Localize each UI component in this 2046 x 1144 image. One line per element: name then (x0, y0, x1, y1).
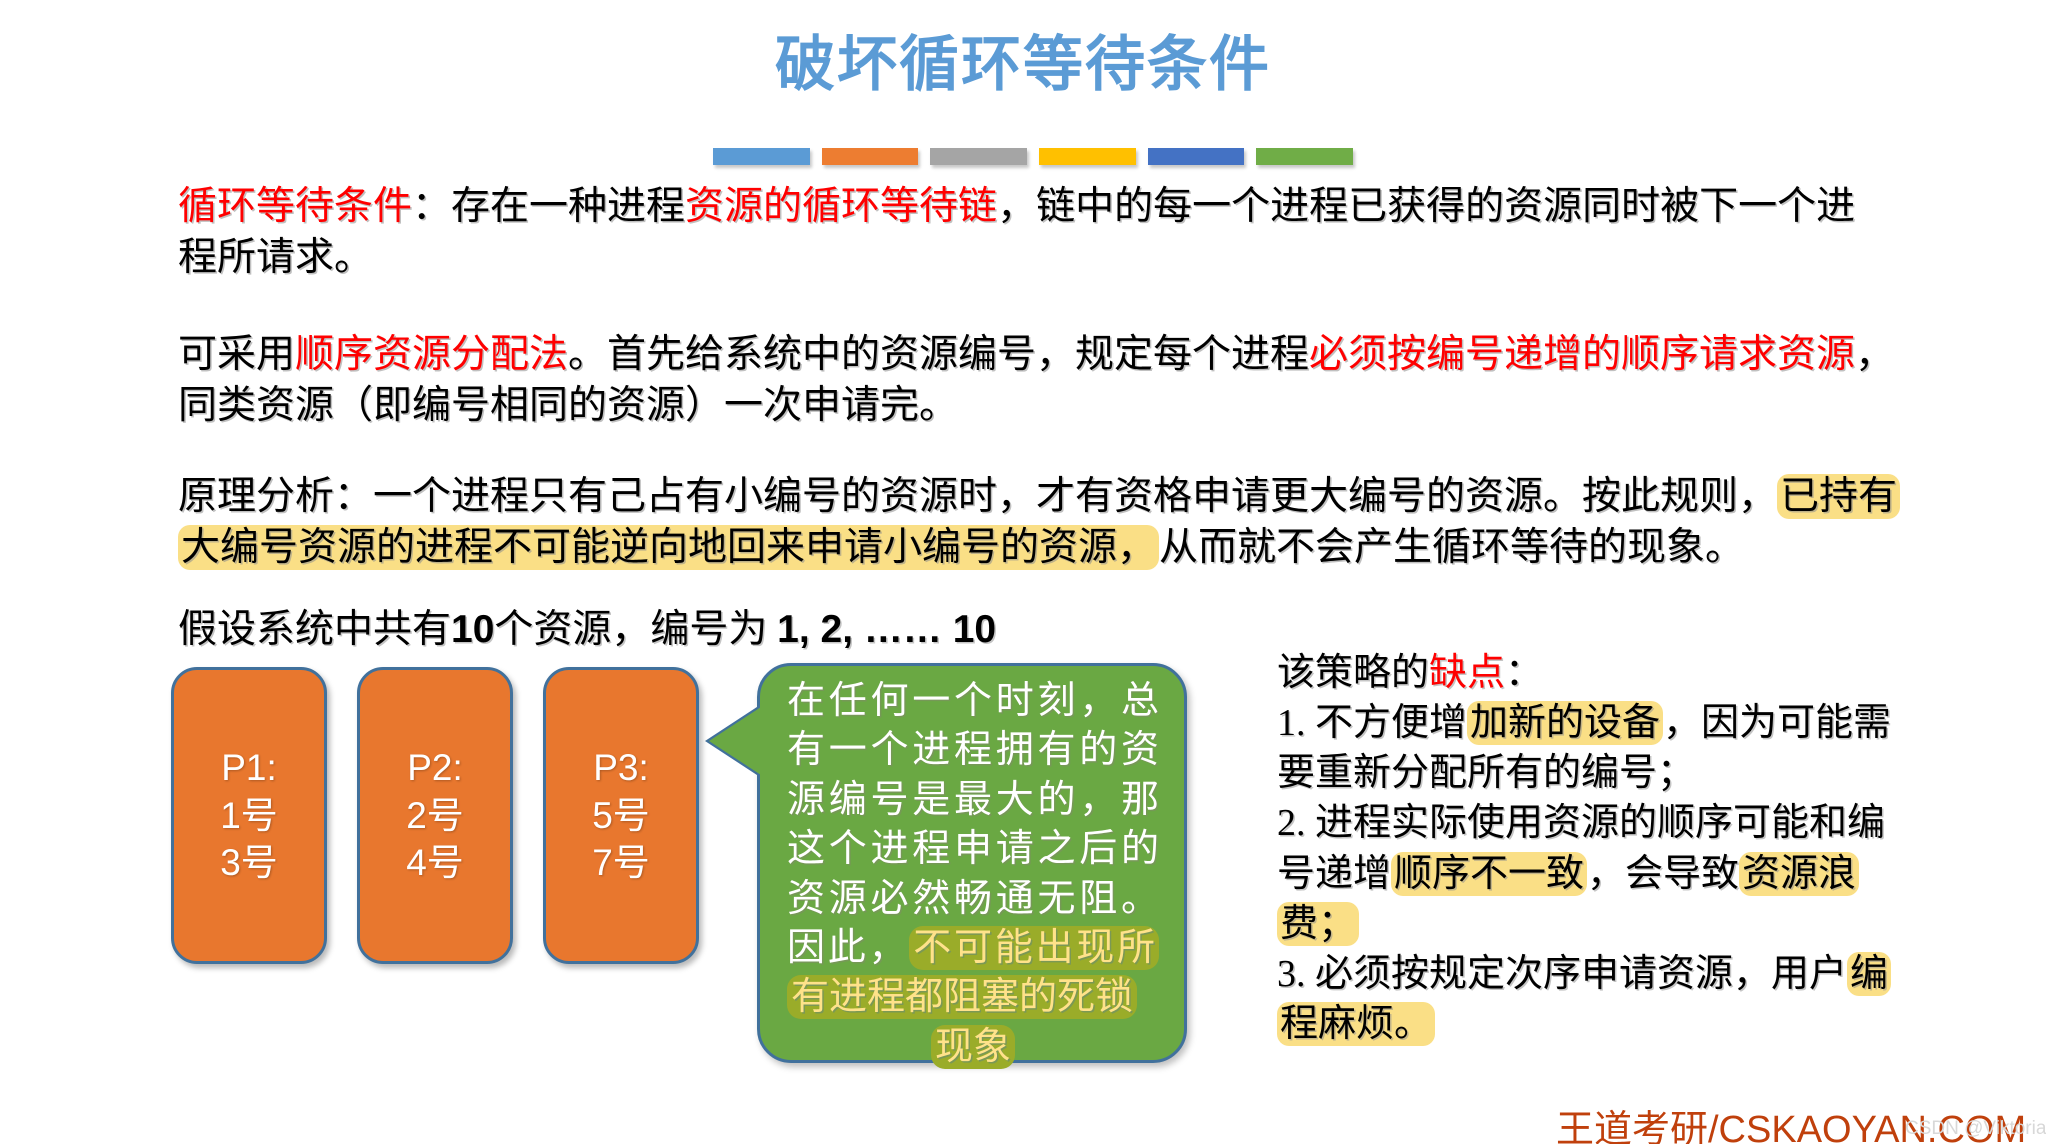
drawback-2-highlight: 顺序不一致 (1391, 852, 1587, 896)
process-name: P3: (593, 744, 649, 791)
process-resource: 7号 (592, 839, 650, 886)
callout-highlight-2: 现象 (931, 1025, 1015, 1069)
assumption-count: 10 (451, 608, 494, 651)
paragraph-ordered-resource-allocation: 可采用顺序资源分配法。首先给系统中的资源编号，规定每个进程必须按编号递增的顺序请… (178, 330, 1898, 431)
drawbacks-heading-text-2: ： (1505, 652, 1543, 694)
color-bar-segment-yellow (1039, 148, 1136, 165)
callout-text: 在任何一个时刻，总有一个进程拥有的资源编号是最大的，那这个进程申请之后的资源必然… (757, 663, 1187, 1082)
color-bar-segment-dark-blue (1148, 148, 1245, 165)
process-name: P2: (407, 744, 463, 791)
color-bar-segment-gray (930, 148, 1027, 165)
paragraph-principle-analysis: 原理分析：一个进程只有己占有小编号的资源时，才有资格申请更大编号的资源。按此规则… (178, 472, 1898, 573)
drawbacks-list: 该策略的缺点： 1. 不方便增加新的设备，因为可能需要重新分配所有的编号； 2.… (1277, 648, 1917, 1049)
decorative-color-bar (713, 148, 1353, 165)
color-bar-segment-green (1256, 148, 1353, 165)
list-item: 1. 不方便增加新的设备，因为可能需要重新分配所有的编号； (1277, 698, 1917, 798)
drawback-1-highlight: 加新的设备 (1467, 701, 1663, 745)
assumption-numbers: 1, 2, …… 10 (777, 608, 996, 651)
p2-text-2: 。首先给系统中的资源编号，规定每个进程 (568, 333, 1309, 376)
process-resource: 1号 (220, 792, 278, 839)
paragraph-circular-wait-definition: 循环等待条件：存在一种进程资源的循环等待链，链中的每一个进程已获得的资源同时被下… (178, 182, 1878, 283)
process-box-p2[interactable]: P2: 2号 4号 (357, 667, 513, 964)
process-box-p1[interactable]: P1: 1号 3号 (171, 667, 327, 964)
assumption-text-1: 假设系统中共有 (178, 608, 451, 651)
process-name: P1: (221, 744, 277, 791)
drawback-2-number: 2. (1277, 802, 1315, 844)
process-resource: 2号 (406, 792, 464, 839)
p1-term: 循环等待条件 (178, 185, 412, 228)
drawback-1-text-1: 不方便增 (1315, 702, 1467, 744)
callout-bubble: 在任何一个时刻，总有一个进程拥有的资源编号是最大的，那这个进程申请之后的资源必然… (757, 663, 1187, 1063)
slide-root: 破坏循环等待条件 循环等待条件：存在一种进程资源的循环等待链，链中的每一个进程已… (0, 0, 2046, 1144)
p2-red-2: 必须按编号递增的顺序请求资源 (1309, 333, 1855, 376)
list-item: 3. 必须按规定次序申请资源，用户编程麻烦。 (1277, 949, 1917, 1049)
drawbacks-heading: 该策略的缺点： (1277, 648, 1917, 698)
process-resource: 5号 (592, 792, 650, 839)
drawbacks-heading-text-1: 该策略的 (1277, 652, 1429, 694)
p2-text-1: 可采用 (178, 333, 295, 376)
assumption-line: 假设系统中共有10个资源，编号为 1, 2, …… 10 (178, 598, 996, 654)
drawback-3-number: 3. (1277, 953, 1315, 995)
p1-red-1: 资源的循环等待链 (685, 185, 997, 228)
process-box-p3[interactable]: P3: 5号 7号 (543, 667, 699, 964)
p2-red-1: 顺序资源分配法 (295, 333, 568, 376)
p3-text-2: 从而就不会产生循环等待的现象。 (1159, 526, 1744, 569)
csdn-watermark: CSDN @Viktoriae (1905, 1118, 2046, 1140)
p3-text-1: 原理分析：一个进程只有己占有小编号的资源时，才有资格申请更大编号的资源。按此规则… (178, 475, 1777, 518)
process-resource: 4号 (406, 839, 464, 886)
list-item: 2. 进程实际使用资源的顺序可能和编号递增顺序不一致，会导致资源浪费； (1277, 798, 1917, 948)
color-bar-segment-blue (713, 148, 810, 165)
p1-text-1: 存在一种进程 (451, 185, 685, 228)
callout-tail-icon (709, 707, 761, 775)
drawback-2-text-2: ，会导致 (1587, 853, 1739, 895)
color-bar-segment-orange (822, 148, 919, 165)
process-resource: 3号 (220, 839, 278, 886)
drawback-3-text-1: 必须按规定次序申请资源，用户 (1315, 953, 1847, 995)
drawbacks-heading-red: 缺点 (1429, 652, 1505, 694)
p1-colon: ： (412, 185, 451, 228)
assumption-text-2: 个资源，编号为 (494, 608, 777, 651)
page-title: 破坏循环等待条件 (0, 32, 2046, 98)
drawback-1-number: 1. (1277, 702, 1315, 744)
